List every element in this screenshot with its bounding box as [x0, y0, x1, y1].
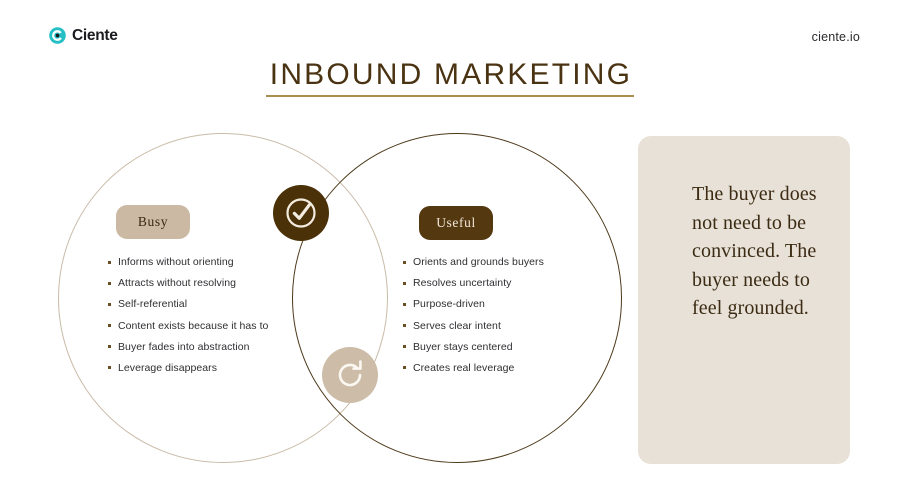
list-item: Content exists because it has to — [108, 320, 318, 332]
bullet-icon — [403, 345, 406, 348]
bullet-icon — [108, 303, 111, 306]
list-useful: Orients and grounds buyers Resolves unce… — [403, 256, 603, 383]
list-item-label: Purpose-driven — [413, 298, 485, 310]
list-item-label: Self-referential — [118, 298, 187, 310]
list-item: Orients and grounds buyers — [403, 256, 603, 268]
list-busy: Informs without orienting Attracts witho… — [108, 256, 318, 383]
bullet-icon — [403, 282, 406, 285]
bullet-icon — [108, 366, 111, 369]
list-item-label: Leverage disappears — [118, 362, 217, 374]
label-pill-useful-text: Useful — [436, 215, 476, 231]
bullet-icon — [403, 261, 406, 264]
site-url-label: ciente.io — [812, 30, 860, 44]
check-circle-icon — [282, 194, 320, 232]
list-item: Purpose-driven — [403, 298, 603, 310]
refresh-cycle-icon — [332, 357, 368, 393]
label-pill-busy: Busy — [116, 205, 190, 239]
list-item-label: Content exists because it has to — [118, 320, 268, 332]
bullet-icon — [108, 261, 111, 264]
slide-canvas: Ciente ciente.io INBOUND MARKETING Busy … — [0, 0, 902, 495]
bullet-icon — [403, 366, 406, 369]
bullet-icon — [108, 324, 111, 327]
venn-diagram: Busy Useful Informs without orienting — [0, 0, 640, 495]
list-item: Leverage disappears — [108, 362, 318, 374]
list-item-label: Resolves uncertainty — [413, 277, 511, 289]
cycle-badge — [322, 347, 378, 403]
list-item: Creates real leverage — [403, 362, 603, 374]
check-badge — [273, 185, 329, 241]
list-item-label: Attracts without resolving — [118, 277, 236, 289]
list-item-label: Creates real leverage — [413, 362, 514, 374]
list-item-label: Orients and grounds buyers — [413, 256, 544, 268]
bullet-icon — [403, 303, 406, 306]
list-item: Informs without orienting — [108, 256, 318, 268]
list-item: Self-referential — [108, 298, 318, 310]
bullet-icon — [403, 324, 406, 327]
list-item: Buyer stays centered — [403, 341, 603, 353]
label-pill-useful: Useful — [419, 206, 493, 240]
list-item-label: Informs without orienting — [118, 256, 234, 268]
quote-text: The buyer does not need to be convinced.… — [692, 180, 840, 323]
quote-panel: The buyer does not need to be convinced.… — [638, 136, 850, 464]
list-item: Resolves uncertainty — [403, 277, 603, 289]
bullet-icon — [108, 345, 111, 348]
label-pill-busy-text: Busy — [138, 214, 168, 230]
list-item: Serves clear intent — [403, 320, 603, 332]
bullet-icon — [108, 282, 111, 285]
list-item-label: Buyer stays centered — [413, 341, 513, 353]
list-item: Buyer fades into abstraction — [108, 341, 318, 353]
list-item-label: Serves clear intent — [413, 320, 501, 332]
list-item-label: Buyer fades into abstraction — [118, 341, 250, 353]
list-item: Attracts without resolving — [108, 277, 318, 289]
